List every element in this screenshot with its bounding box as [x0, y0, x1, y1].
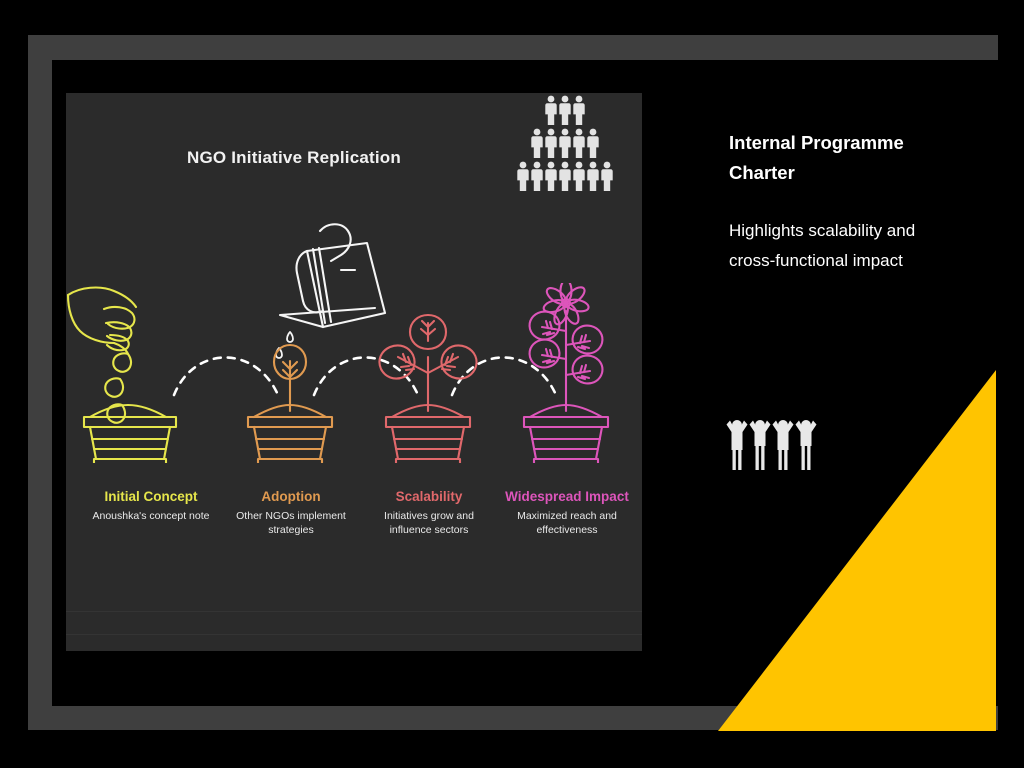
stage-label: Scalability [364, 489, 494, 505]
four-people-cheering-icon [726, 416, 820, 476]
stage-label: Initial Concept [86, 489, 216, 505]
stage-description: Initiatives grow and influence sectors [364, 509, 494, 537]
stage-description: Other NGOs implement strategies [226, 509, 356, 537]
pot-with-flower-icon [524, 405, 608, 463]
panel-divider-1 [66, 611, 642, 612]
side-panel-title: Internal Programme Charter [729, 128, 929, 188]
stage-description: Maximized reach and effectiveness [502, 509, 632, 537]
stage-description: Anoushka's concept note [86, 509, 216, 523]
flowering-plant-icon [530, 283, 603, 411]
stage-captions: Initial Concept Anoushka's concept note … [66, 489, 642, 599]
pot-with-young-plant-icon [386, 405, 470, 463]
panel-divider-2 [66, 634, 642, 635]
stage-caption-widespread-impact: Widespread Impact Maximized reach and ef… [502, 489, 632, 537]
sprout-icon [274, 345, 306, 411]
stage-caption-adoption: Adoption Other NGOs implement strategies [226, 489, 356, 537]
stage-caption-initial-concept: Initial Concept Anoushka's concept note [86, 489, 216, 523]
infographic-panel: NGO Initiative Replication [66, 93, 642, 651]
stage-label: Widespread Impact [502, 489, 632, 505]
young-plant-icon [379, 315, 476, 411]
stage-caption-scalability: Scalability Initiatives grow and influen… [364, 489, 494, 537]
slide-canvas: NGO Initiative Replication [0, 0, 1024, 768]
people-pyramid-icon [513, 95, 623, 193]
growth-stage-illustrations [66, 283, 642, 463]
side-text-block: Internal Programme Charter Highlights sc… [729, 128, 929, 276]
pot-with-sprout-icon [248, 405, 332, 463]
pot-with-seeds-icon [84, 404, 176, 463]
side-panel-subtitle: Highlights scalability and cross-functio… [729, 216, 929, 276]
stage-label: Adoption [226, 489, 356, 505]
hand-sowing-seeds-icon [68, 288, 136, 397]
